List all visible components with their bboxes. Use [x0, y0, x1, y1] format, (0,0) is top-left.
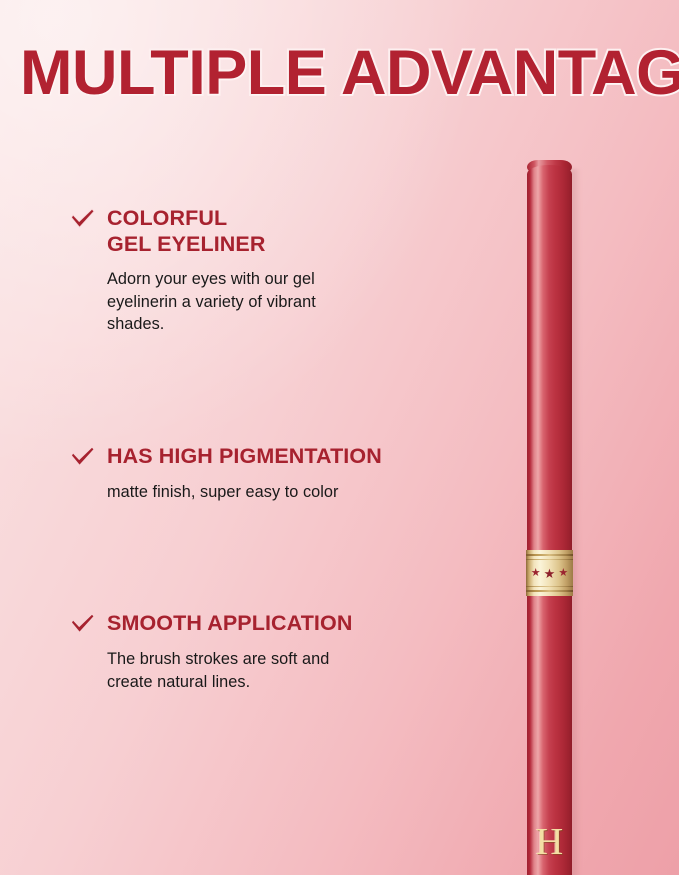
star-icon: ★	[544, 568, 556, 579]
feature-block: HAS HIGH PIGMENTATION matte finish, supe…	[70, 444, 470, 504]
feature-description: The brush strokes are soft and create na…	[107, 648, 470, 693]
feature-title: COLORFUL GEL EYELINER	[107, 206, 266, 257]
product-shadow	[571, 169, 581, 875]
pencil-gold-star-band: ★ ★ ★	[526, 550, 573, 596]
page-title: MULTIPLE ADVANTAGES	[20, 42, 670, 104]
feature-description: Adorn your eyes with our gel eyelinerin …	[107, 268, 470, 336]
feature-title: SMOOTH APPLICATION	[107, 611, 352, 637]
feature-description: matte finish, super easy to color	[107, 481, 470, 504]
check-icon	[70, 207, 96, 233]
feature-title: HAS HIGH PIGMENTATION	[107, 444, 382, 470]
check-icon	[70, 612, 96, 638]
pencil-barrel-upper	[527, 165, 572, 405]
star-icon: ★	[558, 568, 568, 579]
product-image-eyeliner-pencil: ★ ★ ★ H	[525, 155, 581, 815]
brand-logo-letter: H	[527, 823, 572, 861]
feature-block: SMOOTH APPLICATION The brush strokes are…	[70, 611, 470, 693]
star-icon: ★	[531, 568, 541, 579]
feature-heading-row: SMOOTH APPLICATION	[70, 611, 470, 637]
feature-heading-row: COLORFUL GEL EYELINER	[70, 206, 470, 257]
check-icon	[70, 445, 96, 471]
band-stars-group: ★ ★ ★	[526, 550, 573, 596]
feature-heading-row: HAS HIGH PIGMENTATION	[70, 444, 470, 470]
product-feature-graphic: MULTIPLE ADVANTAGES COLORFUL GEL EYELINE…	[0, 0, 679, 875]
pencil-barrel-middle	[527, 405, 572, 550]
feature-block: COLORFUL GEL EYELINER Adorn your eyes wi…	[70, 206, 470, 336]
